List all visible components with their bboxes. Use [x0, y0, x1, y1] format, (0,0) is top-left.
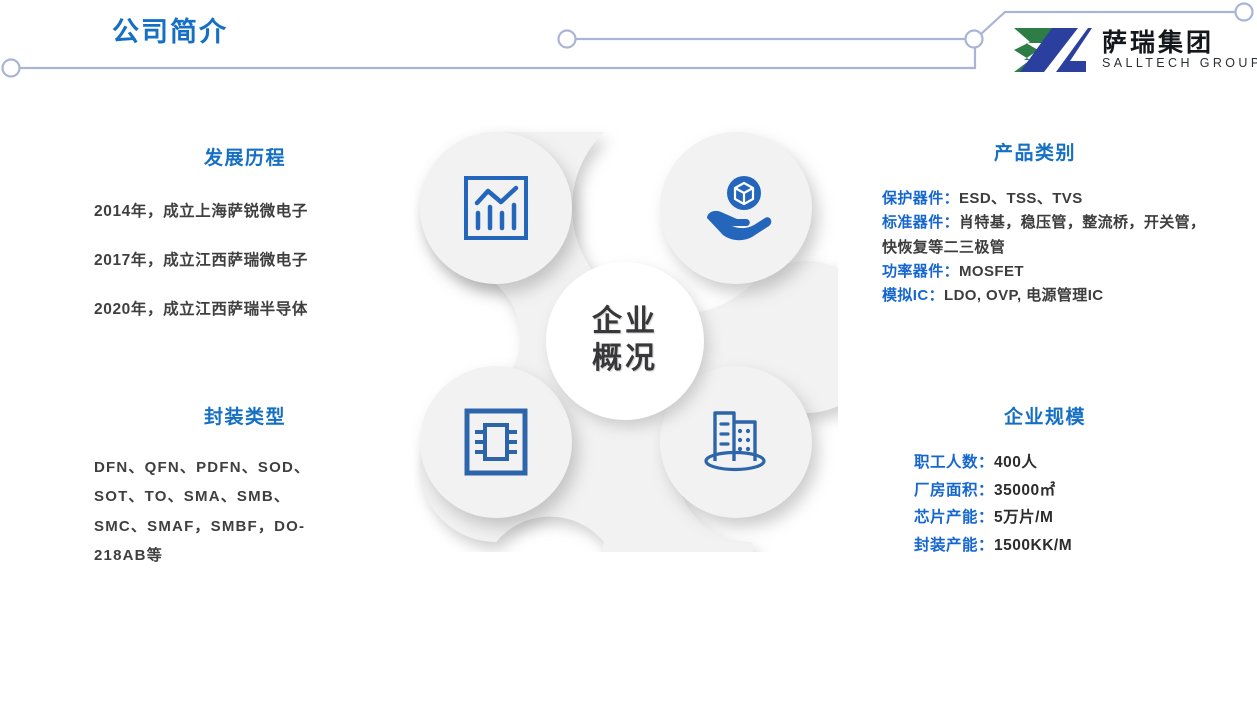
hand-holding-box-icon: [699, 171, 773, 245]
panel-product-categories: 产品类别 保护器件：ESD、TSS、TVS 标准器件：肖特基，稳压管，整流桥，开…: [860, 138, 1210, 308]
diagram-lobe-top-left: [420, 132, 572, 284]
scale-label: 厂房面积：: [914, 482, 994, 499]
package-types-text: DFN、QFN、PDFN、SOD、SOT、TO、SMA、SMB、SMC、SMAF…: [94, 453, 342, 570]
scale-row: 芯片产能：5万片/M: [914, 504, 1210, 532]
logo-wordmark: 萨瑞集团 SALLTECH GROUP: [1102, 30, 1257, 71]
scale-label: 职工人数：: [914, 454, 994, 471]
product-value: ESD、TSS、TVS: [959, 190, 1083, 207]
chart-analytics-icon: [460, 172, 532, 244]
logo-name-cn: 萨瑞集团: [1102, 30, 1257, 56]
panel-title-development-history: 发展历程: [80, 143, 410, 170]
diagram-lobe-bottom-left: [420, 366, 572, 518]
product-row: 模拟IC：LDO, OVP, 电源管理IC: [882, 284, 1210, 308]
product-value: MOSFET: [959, 263, 1024, 280]
scale-label: 芯片产能：: [914, 509, 994, 526]
scale-value: 35000㎡: [994, 482, 1056, 499]
hub-title-line2: 概况: [592, 341, 658, 378]
page-header: 公司简介 萨瑞集团 SALLTECH GROUP: [0, 0, 1257, 96]
scale-row: 封装产能：1500KK/M: [914, 532, 1210, 560]
panel-company-scale: 企业规模 职工人数：400人 厂房面积：35000㎡ 芯片产能：5万片/M 封装…: [880, 402, 1210, 559]
company-scale-list: 职工人数：400人 厂房面积：35000㎡ 芯片产能：5万片/M 封装产能：15…: [914, 449, 1210, 559]
salltech-logo-mark-icon: [1008, 24, 1096, 76]
product-label: 功率器件：: [882, 263, 959, 280]
chip-ic-icon: [460, 406, 532, 478]
company-logo: 萨瑞集团 SALLTECH GROUP: [1008, 20, 1248, 80]
history-item: 2020年，成立江西萨瑞半导体: [94, 297, 410, 319]
product-categories-list: 保护器件：ESD、TSS、TVS 标准器件：肖特基，稳压管，整流桥，开关管，快恢…: [882, 187, 1210, 308]
page-title: 公司简介: [112, 10, 228, 49]
hub-title-line1: 企业: [592, 304, 658, 341]
scale-value: 5万片/M: [994, 509, 1053, 526]
panel-development-history: 发展历程 2014年，成立上海萨锐微电子 2017年，成立江西萨瑞微电子 202…: [80, 143, 410, 346]
product-row: 标准器件：肖特基，稳压管，整流桥，开关管，快恢复等二三极管: [882, 211, 1210, 260]
office-buildings-icon: [698, 404, 774, 480]
product-row: 保护器件：ESD、TSS、TVS: [882, 187, 1210, 211]
scale-row: 厂房面积：35000㎡: [914, 477, 1210, 505]
product-label: 模拟IC：: [882, 287, 944, 304]
product-label: 保护器件：: [882, 190, 959, 207]
panel-title-product-categories: 产品类别: [860, 138, 1210, 165]
product-label: 标准器件：: [882, 214, 959, 231]
diagram-lobe-top-right: [660, 132, 812, 284]
history-item: 2017年，成立江西萨瑞微电子: [94, 248, 410, 270]
logo-name-en: SALLTECH GROUP: [1102, 57, 1257, 71]
scale-row: 职工人数：400人: [914, 449, 1210, 477]
history-item: 2014年，成立上海萨锐微电子: [94, 199, 410, 221]
panel-package-types: 封装类型 DFN、QFN、PDFN、SOD、SOT、TO、SMA、SMB、SMC…: [80, 402, 410, 570]
panel-title-package-types: 封装类型: [80, 402, 410, 429]
diagram-center-hub: 企业 概况: [546, 262, 704, 420]
product-value: LDO, OVP, 电源管理IC: [944, 287, 1103, 304]
scale-value: 400人: [994, 454, 1037, 471]
product-row: 功率器件：MOSFET: [882, 260, 1210, 284]
panel-title-company-scale: 企业规模: [880, 402, 1210, 429]
scale-value: 1500KK/M: [994, 537, 1072, 554]
company-overview-diagram: 企业 概况: [414, 122, 838, 552]
development-history-list: 2014年，成立上海萨锐微电子 2017年，成立江西萨瑞微电子 2020年，成立…: [94, 199, 410, 319]
scale-label: 封装产能：: [914, 537, 994, 554]
